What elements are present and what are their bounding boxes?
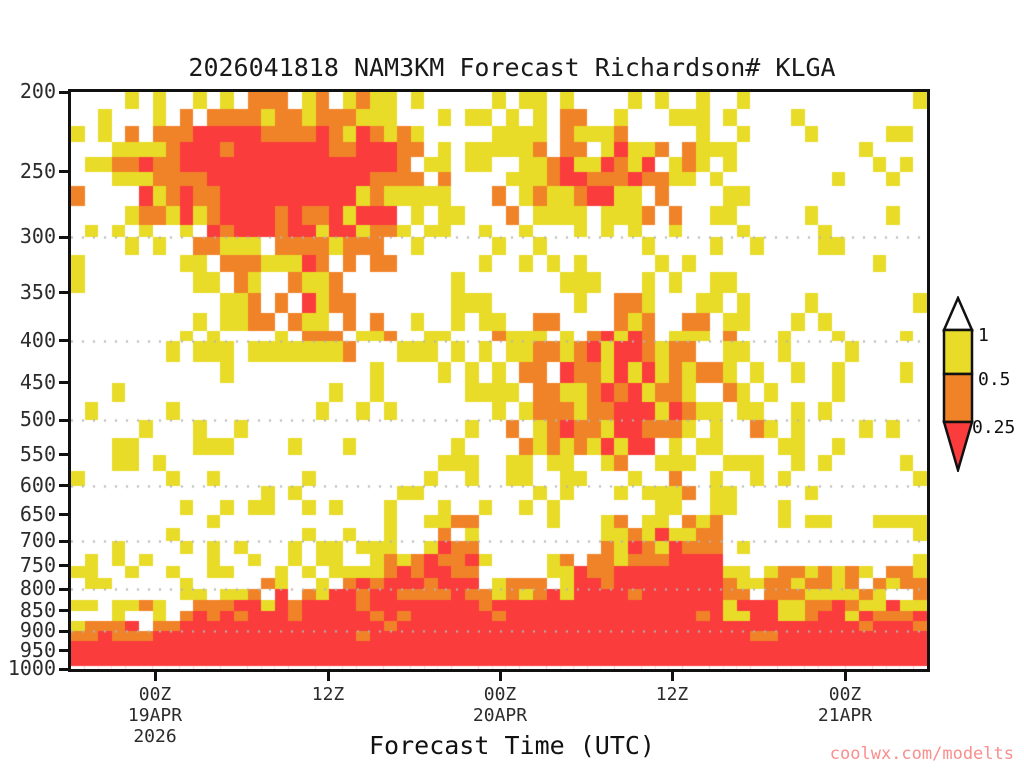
heatmap-canvas: [71, 92, 927, 669]
y-tick-mark: [59, 630, 68, 633]
y-tick-mark: [59, 668, 68, 671]
x-tick-mark: [154, 672, 157, 681]
y-tick-mark: [59, 291, 68, 294]
page-title: 2026041818 NAM3KM Forecast Richardson# K…: [0, 53, 1024, 82]
y-tick-label-550: 550: [0, 442, 56, 466]
y-tick-label-1000: 1000: [0, 656, 56, 680]
y-tick-label-350: 350: [0, 280, 56, 304]
colorbar-label-0.5: 0.5: [978, 369, 1011, 390]
y-tick-mark: [59, 609, 68, 612]
y-tick-mark: [59, 339, 68, 342]
colorbar-band-below-0.25: [944, 422, 972, 470]
y-tick-mark: [59, 649, 68, 652]
y-tick-label-500: 500: [0, 407, 56, 431]
x-tick-label-0: 00Z 19APR: [95, 684, 215, 726]
y-tick-label-300: 300: [0, 224, 56, 248]
x-tick-mark: [327, 672, 330, 681]
colorbar-band-0.25-0.5: [944, 374, 972, 422]
chart-root: 2026041818 NAM3KM Forecast Richardson# K…: [0, 0, 1024, 768]
y-tick-mark: [59, 588, 68, 591]
y-tick-mark: [59, 381, 68, 384]
y-tick-mark: [59, 484, 68, 487]
y-tick-label-450: 450: [0, 370, 56, 394]
y-tick-label-750: 750: [0, 553, 56, 577]
y-tick-label-250: 250: [0, 159, 56, 183]
colorbar-label-0.25: 0.25: [972, 417, 1015, 438]
y-tick-mark: [59, 513, 68, 516]
y-tick-mark: [59, 540, 68, 543]
x-tick-label-3: 12Z: [612, 684, 732, 705]
y-tick-label-650: 650: [0, 502, 56, 526]
colorbar: [941, 296, 975, 472]
y-tick-label-200: 200: [0, 79, 56, 103]
colorbar-graphic: [941, 296, 975, 472]
y-tick-mark: [59, 91, 68, 94]
x-tick-mark: [844, 672, 847, 681]
x-tick-label-1: 12Z: [268, 684, 388, 705]
x-tick-mark: [499, 672, 502, 681]
y-tick-mark: [59, 564, 68, 567]
plot-area: [68, 89, 930, 672]
colorbar-label-1: 1: [978, 325, 989, 346]
x-tick-label-2: 00Z 20APR: [440, 684, 560, 726]
y-tick-label-800: 800: [0, 576, 56, 600]
y-tick-label-400: 400: [0, 328, 56, 352]
x-tick-label-4: 00Z 21APR: [785, 684, 905, 726]
colorbar-band-above-1: [944, 298, 972, 330]
y-tick-mark: [59, 453, 68, 456]
watermark: coolwx.com/modelts: [0, 744, 1014, 764]
y-tick-label-700: 700: [0, 528, 56, 552]
y-tick-mark: [59, 170, 68, 173]
y-tick-label-600: 600: [0, 473, 56, 497]
x-tick-mark: [671, 672, 674, 681]
colorbar-band-0.5-1: [944, 330, 972, 374]
y-tick-mark: [59, 236, 68, 239]
y-tick-mark: [59, 419, 68, 422]
